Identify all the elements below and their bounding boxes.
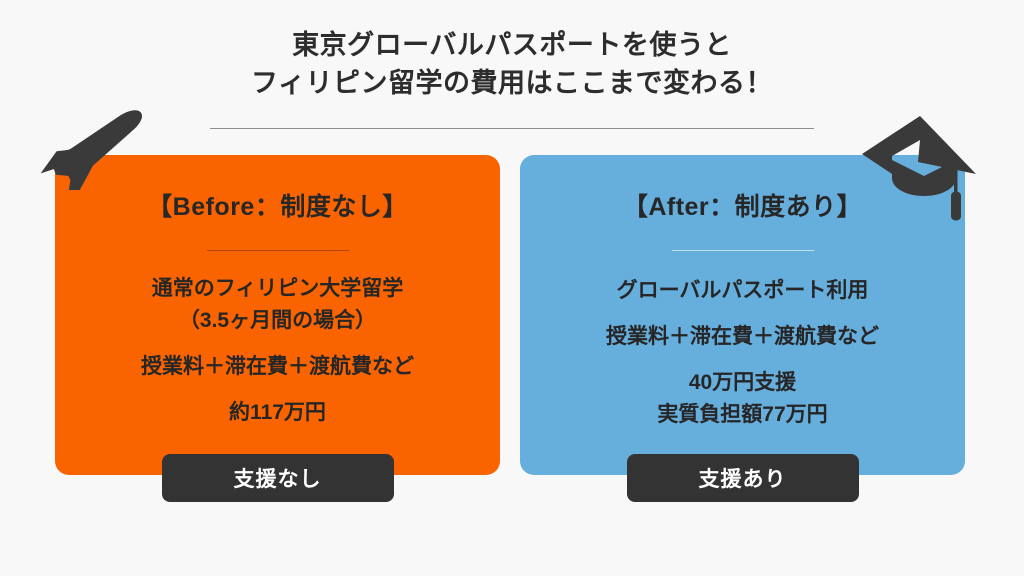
card-after-body: グローバルパスポート利用 授業料＋滞在費＋渡航費など 40万円支援 実質負担額7…: [520, 275, 965, 431]
card-after-badge: 支援あり: [627, 454, 859, 502]
card-before-line-4: 約117万円: [55, 397, 500, 429]
card-before-badge: 支援なし: [162, 454, 394, 502]
page-title-line-1: 東京グローバルパスポートを使うと: [0, 26, 1024, 64]
card-before-body-group-3: 約117万円: [55, 397, 500, 429]
card-before-body-group-2: 授業料＋滞在費＋渡航費など: [55, 351, 500, 383]
card-before-line-1: 通常のフィリピン大学留学: [55, 273, 500, 305]
card-before-body-group-1: 通常のフィリピン大学留学 （3.5ヶ月間の場合）: [55, 273, 500, 337]
card-after-line-2: 授業料＋滞在費＋渡航費など: [520, 321, 965, 353]
title-divider: [210, 128, 814, 129]
card-after-divider: [672, 250, 814, 251]
comparison-card-after: 【After：制度あり】 グローバルパスポート利用 授業料＋滞在費＋渡航費など …: [520, 155, 965, 475]
card-after-body-group-3: 40万円支援 実質負担額77万円: [520, 367, 965, 431]
card-after-body-group-1: グローバルパスポート利用: [520, 275, 965, 307]
page-title: 東京グローバルパスポートを使うと フィリピン留学の費用はここまで変わる！: [0, 26, 1024, 102]
card-before-line-2: （3.5ヶ月間の場合）: [55, 305, 500, 337]
card-after-heading: 【After：制度あり】: [520, 187, 965, 223]
card-after-body-group-2: 授業料＋滞在費＋渡航費など: [520, 321, 965, 353]
card-before-line-3: 授業料＋滞在費＋渡航費など: [55, 351, 500, 383]
card-after-line-1: グローバルパスポート利用: [520, 275, 965, 307]
page-title-line-2: フィリピン留学の費用はここまで変わる！: [0, 64, 1024, 102]
card-before-divider: [207, 250, 349, 251]
card-after-line-3: 40万円支援: [520, 367, 965, 399]
card-before-body: 通常のフィリピン大学留学 （3.5ヶ月間の場合） 授業料＋滞在費＋渡航費など 約…: [55, 273, 500, 429]
card-before-heading: 【Before：制度なし】: [55, 187, 500, 223]
comparison-card-before: 【Before：制度なし】 通常のフィリピン大学留学 （3.5ヶ月間の場合） 授…: [55, 155, 500, 475]
card-after-line-4: 実質負担額77万円: [520, 399, 965, 431]
